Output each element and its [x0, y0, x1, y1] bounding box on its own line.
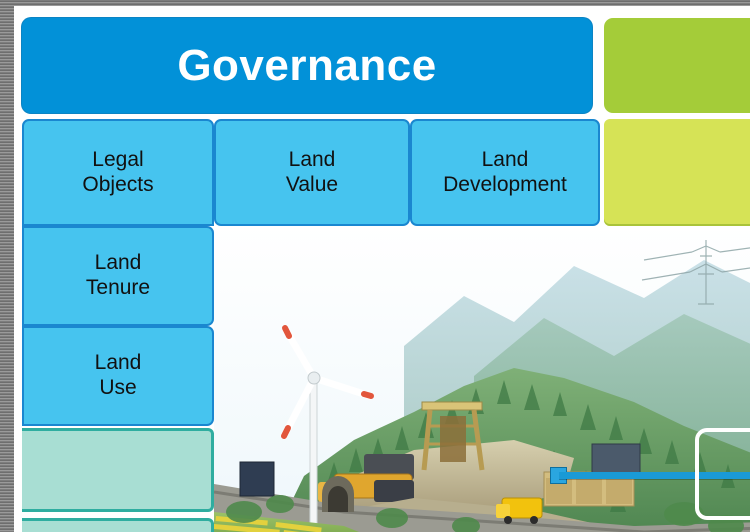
category-box-legal-objects[interactable]: Legal Objects: [22, 119, 214, 226]
callout-box[interactable]: [695, 428, 750, 520]
category-label-line1: Land: [95, 351, 142, 376]
equipment-box: [240, 462, 274, 496]
green-panel-top[interactable]: [604, 18, 750, 113]
category-label-land-development: Land Development: [443, 148, 567, 198]
category-label-line1: Land: [86, 251, 150, 276]
slide-canvas: Governance Legal Objects Land Value Land…: [14, 6, 750, 532]
category-label-line2: Objects: [82, 173, 153, 198]
category-box-mint-1[interactable]: [22, 428, 214, 512]
category-box-land-value[interactable]: Land Value: [214, 119, 410, 226]
category-label-line1: Land: [443, 148, 567, 173]
category-label-line2: Value: [286, 173, 338, 198]
land-development-illustration: [214, 226, 750, 532]
page-title-text: Governance: [177, 40, 436, 92]
category-label-line2: Tenure: [86, 276, 150, 301]
category-label-land-value: Land Value: [286, 148, 338, 198]
category-label-land-use: Land Use: [95, 351, 142, 401]
rail-tunnel: [322, 476, 354, 512]
category-label-line2: Development: [443, 173, 567, 198]
category-label-line2: Use: [95, 376, 142, 401]
green-panel-bottom[interactable]: [604, 119, 750, 226]
category-label-legal-objects: Legal Objects: [82, 148, 153, 198]
category-box-mint-2[interactable]: [22, 518, 214, 532]
landscape-scene-svg: [214, 226, 750, 532]
page-title: Governance: [22, 18, 592, 113]
category-box-land-tenure[interactable]: Land Tenure: [22, 226, 214, 326]
category-box-land-development[interactable]: Land Development: [410, 119, 600, 226]
category-label-land-tenure: Land Tenure: [86, 251, 150, 301]
category-label-line1: Legal: [82, 148, 153, 173]
category-label-line1: Land: [286, 148, 338, 173]
category-box-land-use[interactable]: Land Use: [22, 326, 214, 426]
